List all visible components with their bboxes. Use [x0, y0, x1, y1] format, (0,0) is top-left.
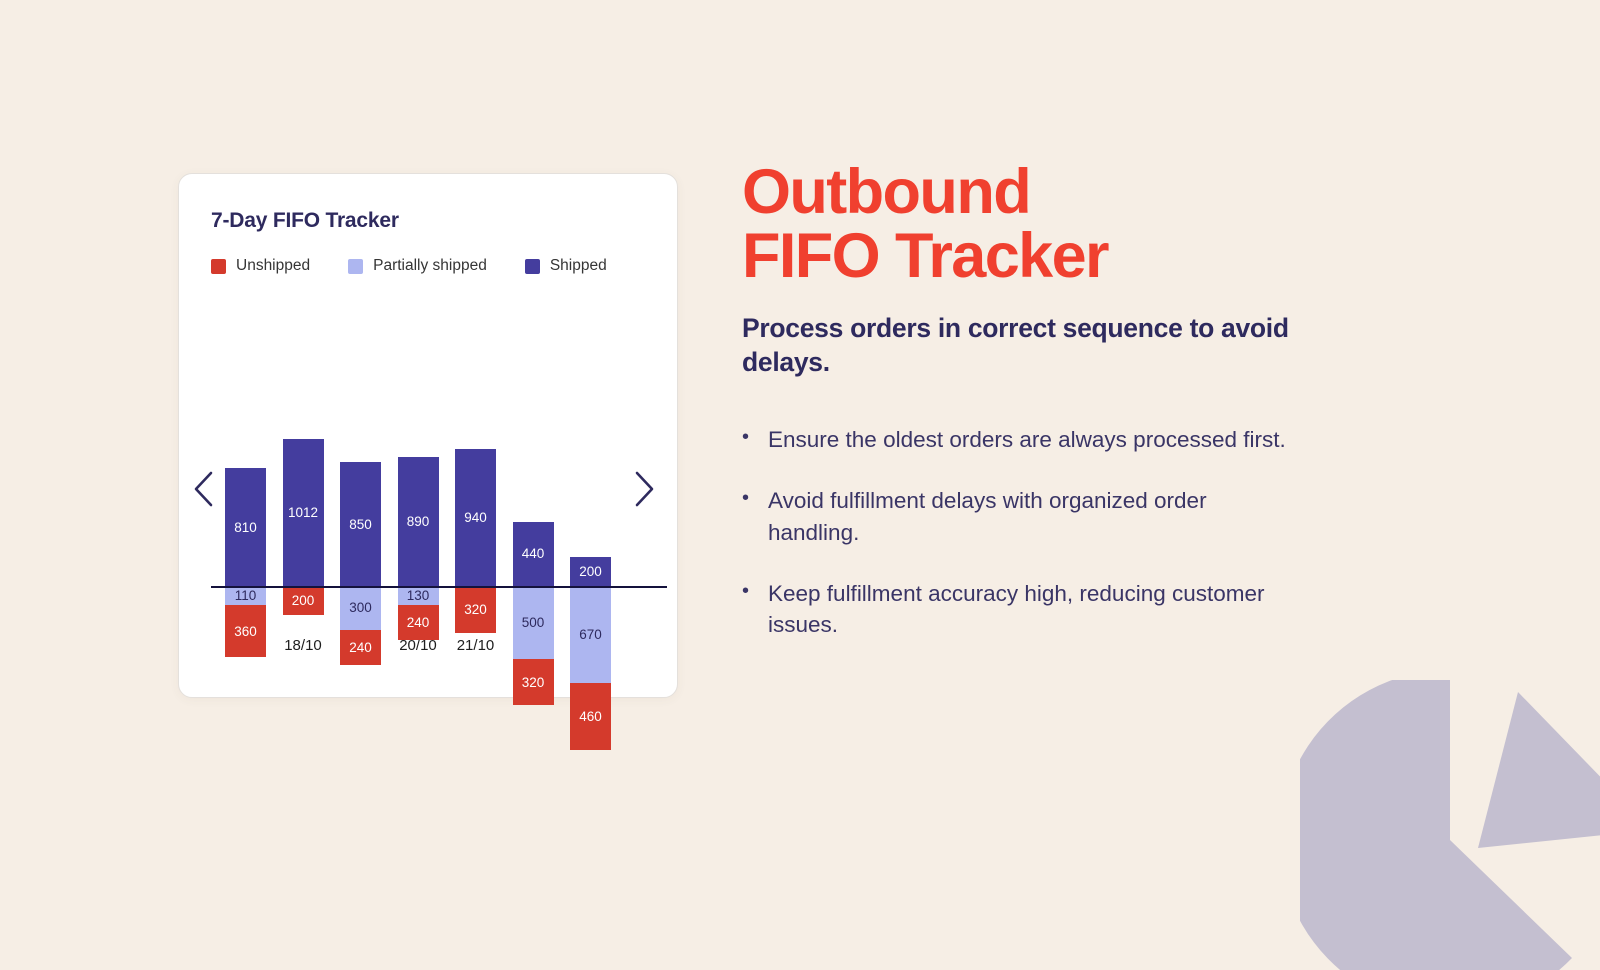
- chevron-right-icon[interactable]: [628, 468, 658, 510]
- bar-segment-unshipped[interactable]: 240: [340, 630, 381, 665]
- list-item-text: Keep fulfillment accuracy high, reducing…: [768, 578, 1287, 640]
- bar-group[interactable]: 940320: [455, 299, 496, 639]
- legend-item-unshipped[interactable]: Unshipped: [211, 257, 310, 275]
- bar-segment-partially-shipped[interactable]: 130: [398, 586, 439, 605]
- pie-exploded-slice: [1478, 692, 1600, 848]
- bar-group[interactable]: 890130240: [398, 299, 439, 639]
- x-axis-tick-label: 18/10: [283, 637, 324, 654]
- bar-segment-shipped[interactable]: 850: [340, 462, 381, 586]
- baseline-rule: [211, 586, 667, 588]
- legend-label-shipped: Shipped: [550, 257, 607, 275]
- bar-segment-unshipped[interactable]: 360: [225, 605, 266, 657]
- bar-segment-partially-shipped[interactable]: 670: [570, 586, 611, 683]
- page-title: Outbound FIFO Tracker: [742, 160, 1362, 289]
- legend-label-partially-shipped: Partially shipped: [373, 257, 487, 275]
- bar-segment-partially-shipped[interactable]: 300: [340, 586, 381, 630]
- chart-title: 7-Day FIFO Tracker: [211, 209, 399, 233]
- bar-group[interactable]: 440500320: [513, 299, 554, 639]
- list-item: •Keep fulfillment accuracy high, reducin…: [742, 578, 1287, 640]
- chart-legend: Unshipped Partially shipped Shipped: [211, 257, 651, 275]
- bullet-dot-icon: •: [742, 578, 768, 640]
- legend-item-shipped[interactable]: Shipped: [525, 257, 607, 275]
- x-axis-tick-label: 21/10: [455, 637, 496, 654]
- bullet-list: •Ensure the oldest orders are always pro…: [742, 424, 1362, 639]
- chevron-left-icon[interactable]: [190, 468, 220, 510]
- bar-group[interactable]: 200670460: [570, 299, 611, 639]
- bar-segment-unshipped[interactable]: 320: [455, 586, 496, 633]
- bar-segment-shipped[interactable]: 810: [225, 468, 266, 586]
- legend-swatch-shipped: [525, 259, 540, 274]
- headline-line-1: Outbound: [742, 157, 1030, 227]
- list-item: •Avoid fulfillment delays with organized…: [742, 485, 1287, 547]
- bar-segment-unshipped[interactable]: 320: [513, 659, 554, 706]
- subheading: Process orders in correct sequence to av…: [742, 311, 1317, 381]
- bar-group[interactable]: 1012200: [283, 299, 324, 639]
- bar-segment-shipped[interactable]: 1012: [283, 439, 324, 586]
- fifo-chart-card: 7-Day FIFO Tracker Unshipped Partially s…: [178, 173, 678, 698]
- chart-plot-area: 8101103601012200850300240890130240940320…: [211, 299, 659, 627]
- list-item-text: Avoid fulfillment delays with organized …: [768, 485, 1287, 547]
- bar-segment-shipped[interactable]: 440: [513, 522, 554, 586]
- bar-segment-shipped[interactable]: 940: [455, 449, 496, 586]
- pie-main-slice: [1300, 680, 1572, 970]
- bar-segment-unshipped[interactable]: 200: [283, 586, 324, 615]
- bar-segment-shipped[interactable]: 890: [398, 457, 439, 586]
- bullet-dot-icon: •: [742, 485, 768, 547]
- bar-group[interactable]: 850300240: [340, 299, 381, 639]
- bar-segment-unshipped[interactable]: 460: [570, 683, 611, 750]
- bar-segment-shipped[interactable]: 200: [570, 557, 611, 586]
- bar-group[interactable]: 810110360: [225, 299, 266, 639]
- legend-label-unshipped: Unshipped: [236, 257, 310, 275]
- bullet-dot-icon: •: [742, 424, 768, 455]
- bar-segment-unshipped[interactable]: 240: [398, 605, 439, 640]
- list-item: •Ensure the oldest orders are always pro…: [742, 424, 1287, 455]
- legend-item-partially-shipped[interactable]: Partially shipped: [348, 257, 487, 275]
- decorative-pie-chart: [1300, 680, 1600, 970]
- legend-swatch-unshipped: [211, 259, 226, 274]
- bar-segment-partially-shipped[interactable]: 110: [225, 586, 266, 605]
- legend-swatch-partially-shipped: [348, 259, 363, 274]
- bar-segment-partially-shipped[interactable]: 500: [513, 586, 554, 659]
- content-panel: Outbound FIFO Tracker Process orders in …: [742, 160, 1362, 670]
- headline-line-2: FIFO Tracker: [742, 221, 1108, 291]
- list-item-text: Ensure the oldest orders are always proc…: [768, 424, 1286, 455]
